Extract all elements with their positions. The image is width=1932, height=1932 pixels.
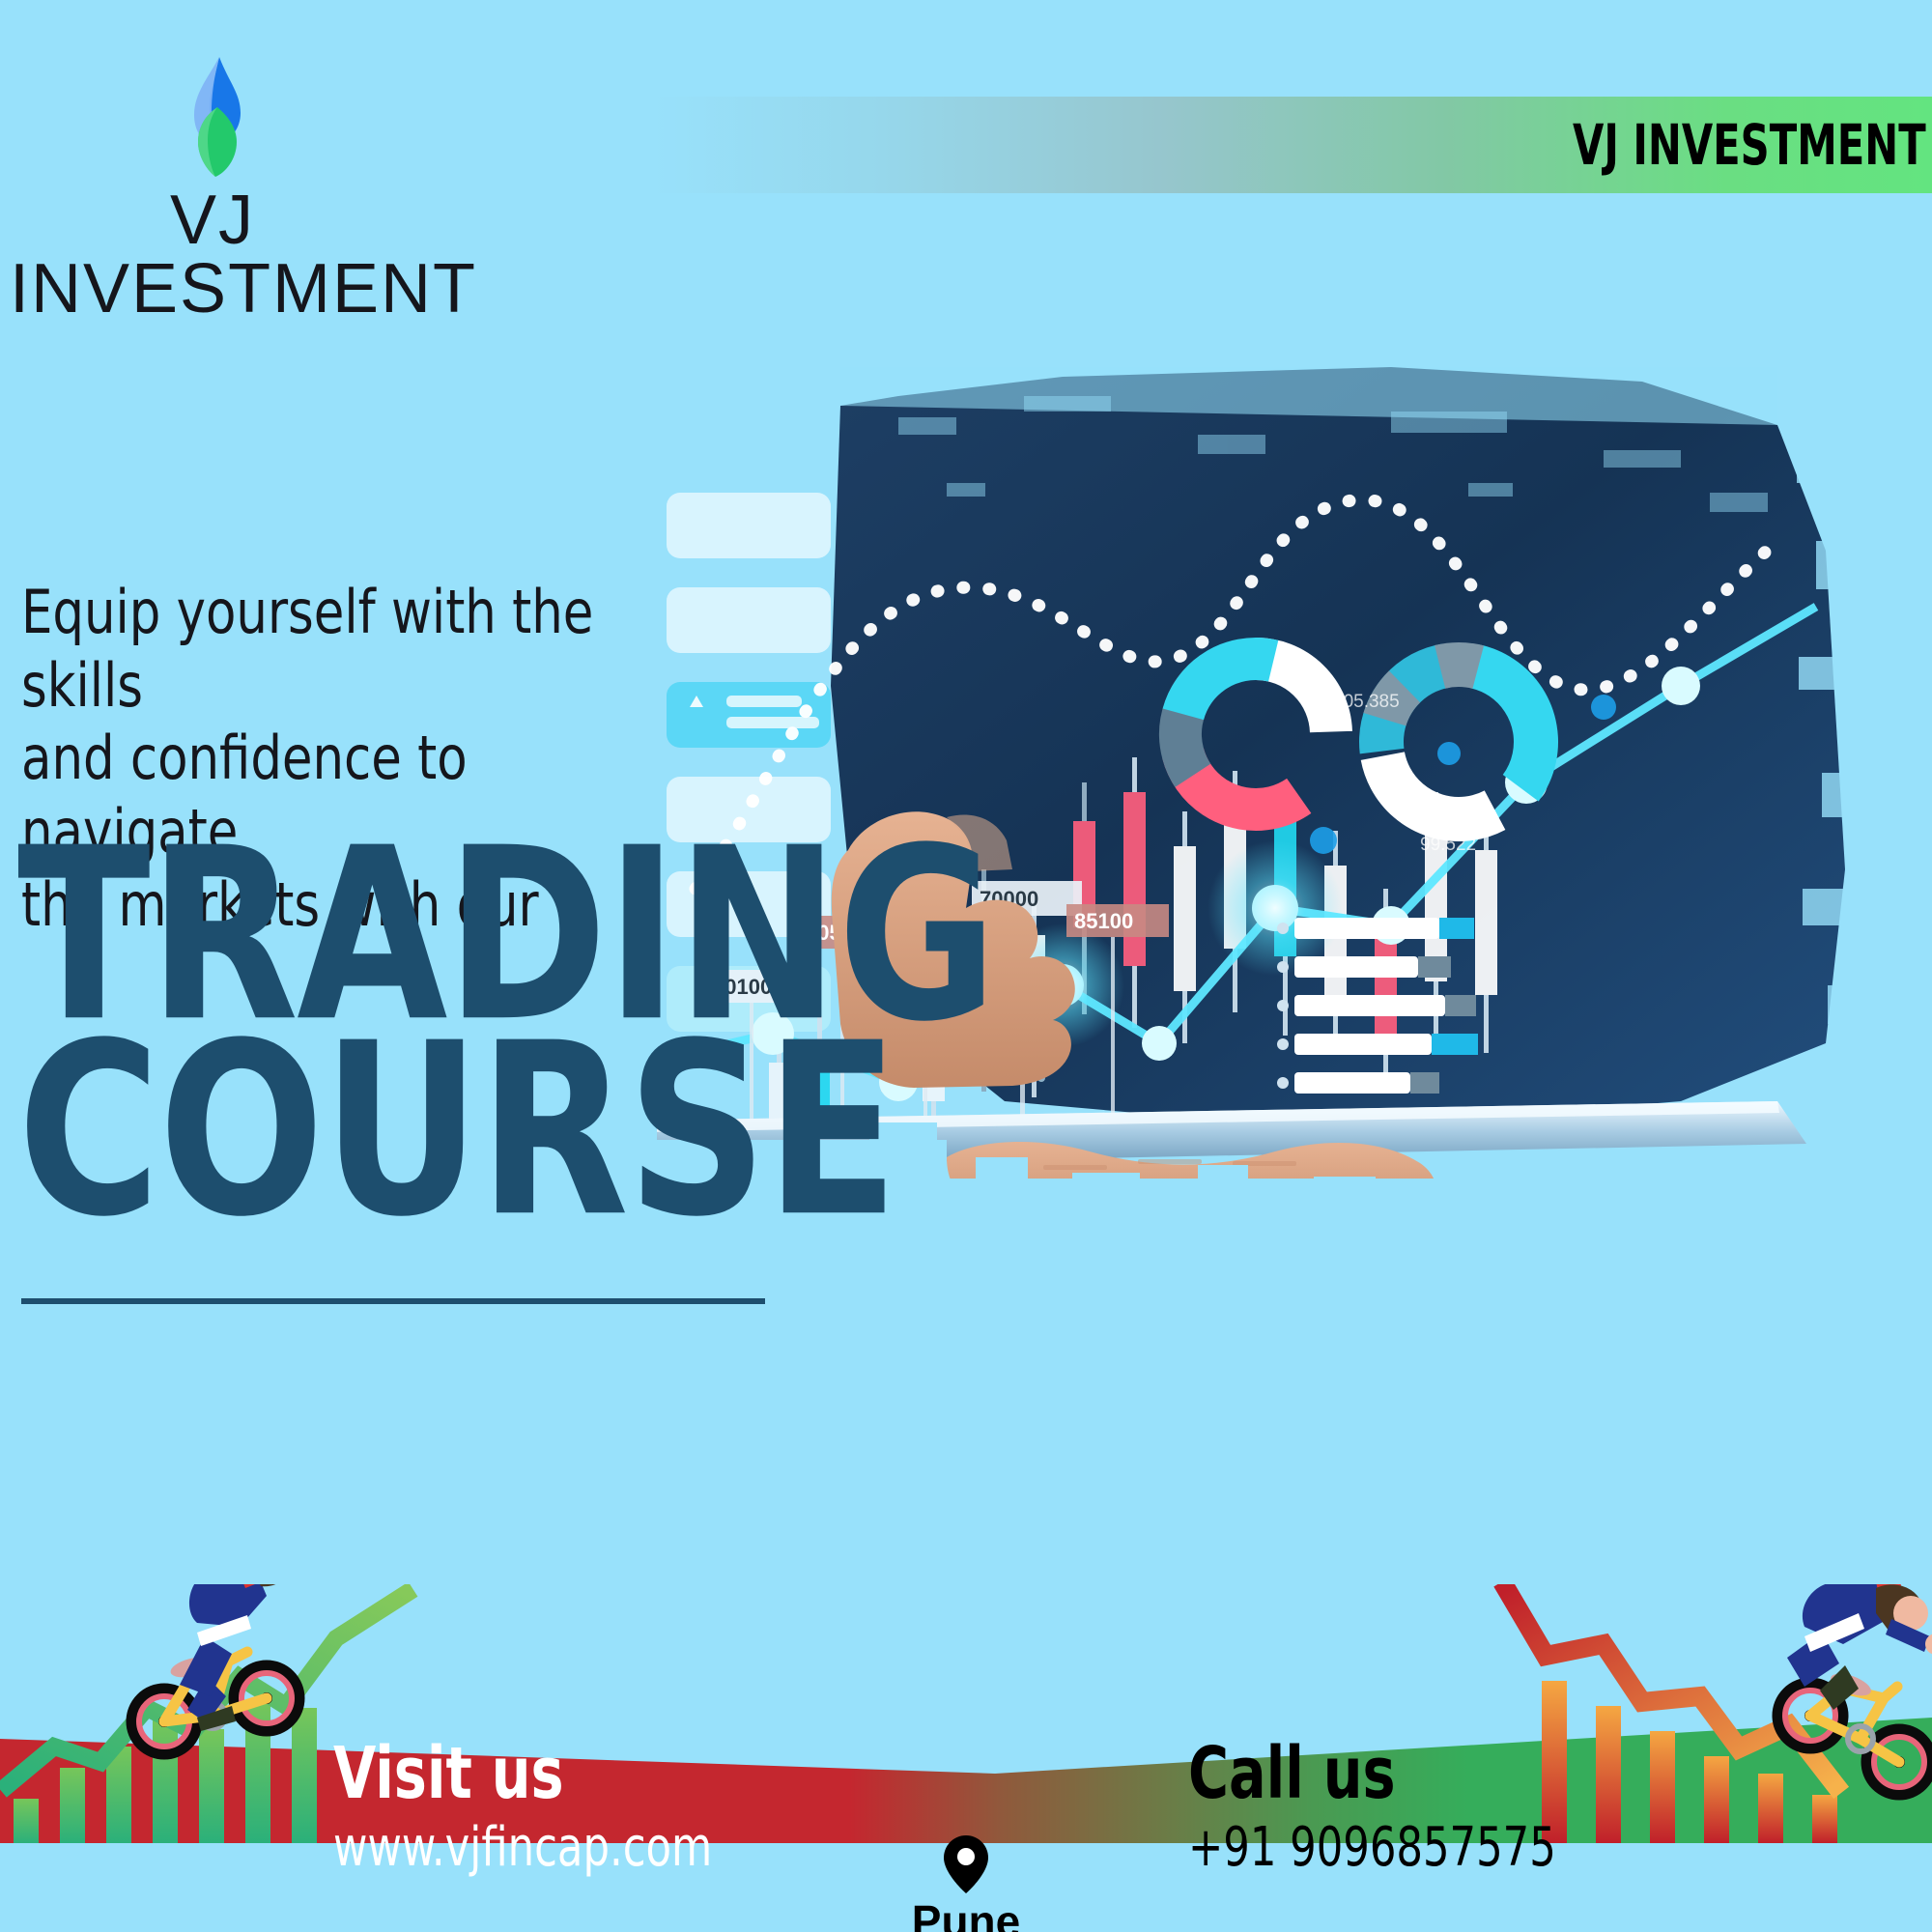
- footer-color-band: [0, 1718, 1932, 1843]
- headline-underline: [21, 1298, 765, 1304]
- headline-line-course: COURSE: [17, 1021, 904, 1240]
- map-pin-icon: [944, 1835, 988, 1893]
- brand-logo-text: VJ INVESTMENT: [10, 186, 415, 323]
- flame-leaf-logo-icon: [169, 53, 256, 179]
- svg-text:85100: 85100: [1074, 909, 1133, 933]
- donut-label-2: 99.522: [1420, 835, 1476, 855]
- headline: TRADING COURSE: [17, 826, 887, 1217]
- top-banner: VJ INVESTMENT: [653, 97, 1932, 193]
- brand-name-line1: VJ: [170, 182, 255, 259]
- call-us-phone-number[interactable]: +91 9096857575: [1188, 1816, 1556, 1879]
- brand-name-line2: INVESTMENT: [10, 255, 415, 324]
- poster-canvas: VJ INVESTMENT VJ INVESTMENT: [0, 0, 1932, 1932]
- location-block: Pune: [898, 1835, 1034, 1932]
- brand-logo: VJ INVESTMENT: [10, 53, 415, 323]
- visit-us-url[interactable]: www.vjfincap.com: [333, 1816, 712, 1879]
- call-us-title: Call us: [1188, 1732, 1396, 1815]
- donut-label-1: 105.385: [1333, 692, 1400, 712]
- location-city-label: Pune: [898, 1895, 1034, 1932]
- top-banner-brand-text: VJ INVESTMENT: [1573, 112, 1932, 178]
- visit-us-title: Visit us: [333, 1732, 564, 1815]
- subhead-line-1: Equip yourself with the skills: [21, 576, 661, 722]
